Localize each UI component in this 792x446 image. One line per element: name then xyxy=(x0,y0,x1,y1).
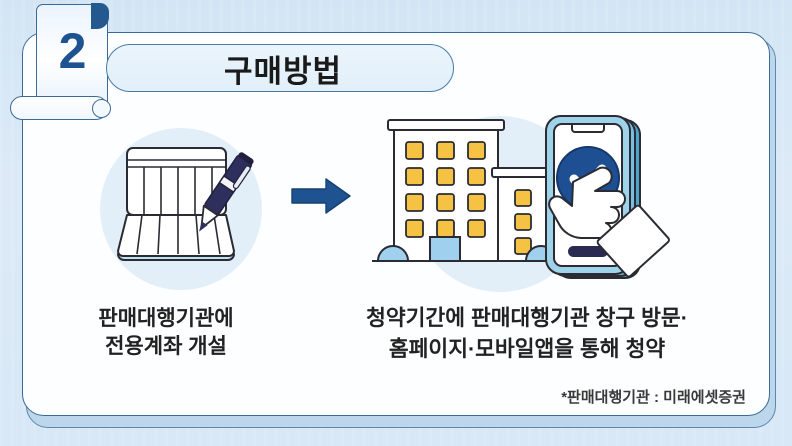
caption-line: 전용계좌 개설 xyxy=(46,333,286,361)
section-title-pill: 구매방법 xyxy=(106,44,454,92)
caption-normal-text: 청약기간에 xyxy=(366,306,471,330)
caption-bold-text: 판매대행기관 창구 방문· xyxy=(471,306,688,330)
scroll-roll-knot xyxy=(92,99,111,118)
footnote: *판매대행기관 : 미래에셋증권 xyxy=(561,386,746,407)
step-scroll-badge: 2 xyxy=(36,4,108,124)
caption-bold-text: 홈페이지·모바일앱을 통해 청약 xyxy=(389,337,665,361)
caption-open-account: 판매대행기관에 전용계좌 개설 xyxy=(46,305,286,362)
buildings-and-smartphone-icon xyxy=(368,104,698,289)
caption-line: 판매대행기관에 xyxy=(46,305,286,333)
page-title: 구매방법 xyxy=(224,46,342,91)
step-number: 2 xyxy=(36,26,108,76)
caption-line: 청약기간에 판매대행기관 창구 방문· xyxy=(292,303,762,334)
infographic-canvas: 2 구매방법 xyxy=(0,0,792,446)
caption-line: 홈페이지·모바일앱을 통해 청약 xyxy=(292,334,762,365)
bankbook-with-pen-icon xyxy=(104,136,264,286)
right-arrow-icon xyxy=(290,176,352,216)
caption-subscribe: 청약기간에 판매대행기관 창구 방문· 홈페이지·모바일앱을 통해 청약 xyxy=(292,303,762,364)
